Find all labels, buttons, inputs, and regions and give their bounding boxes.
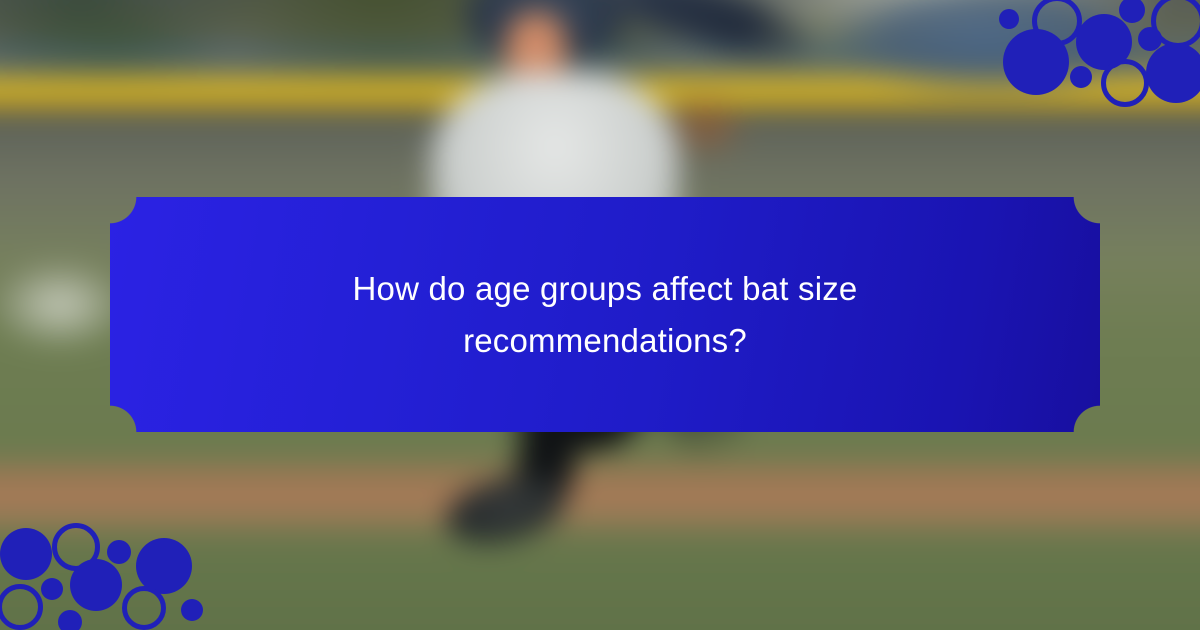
- dot-cluster-top-right-icon: [980, 0, 1200, 110]
- dot-cluster-top-right: [980, 0, 1200, 110]
- social-card: How do age groups affect bat size recomm…: [0, 0, 1200, 630]
- page-title: How do age groups affect bat size recomm…: [110, 197, 1100, 432]
- title-banner: How do age groups affect bat size recomm…: [110, 197, 1100, 432]
- dot-cluster-bottom-left: [0, 510, 220, 630]
- dot-cluster-bottom-left-icon: [0, 510, 220, 630]
